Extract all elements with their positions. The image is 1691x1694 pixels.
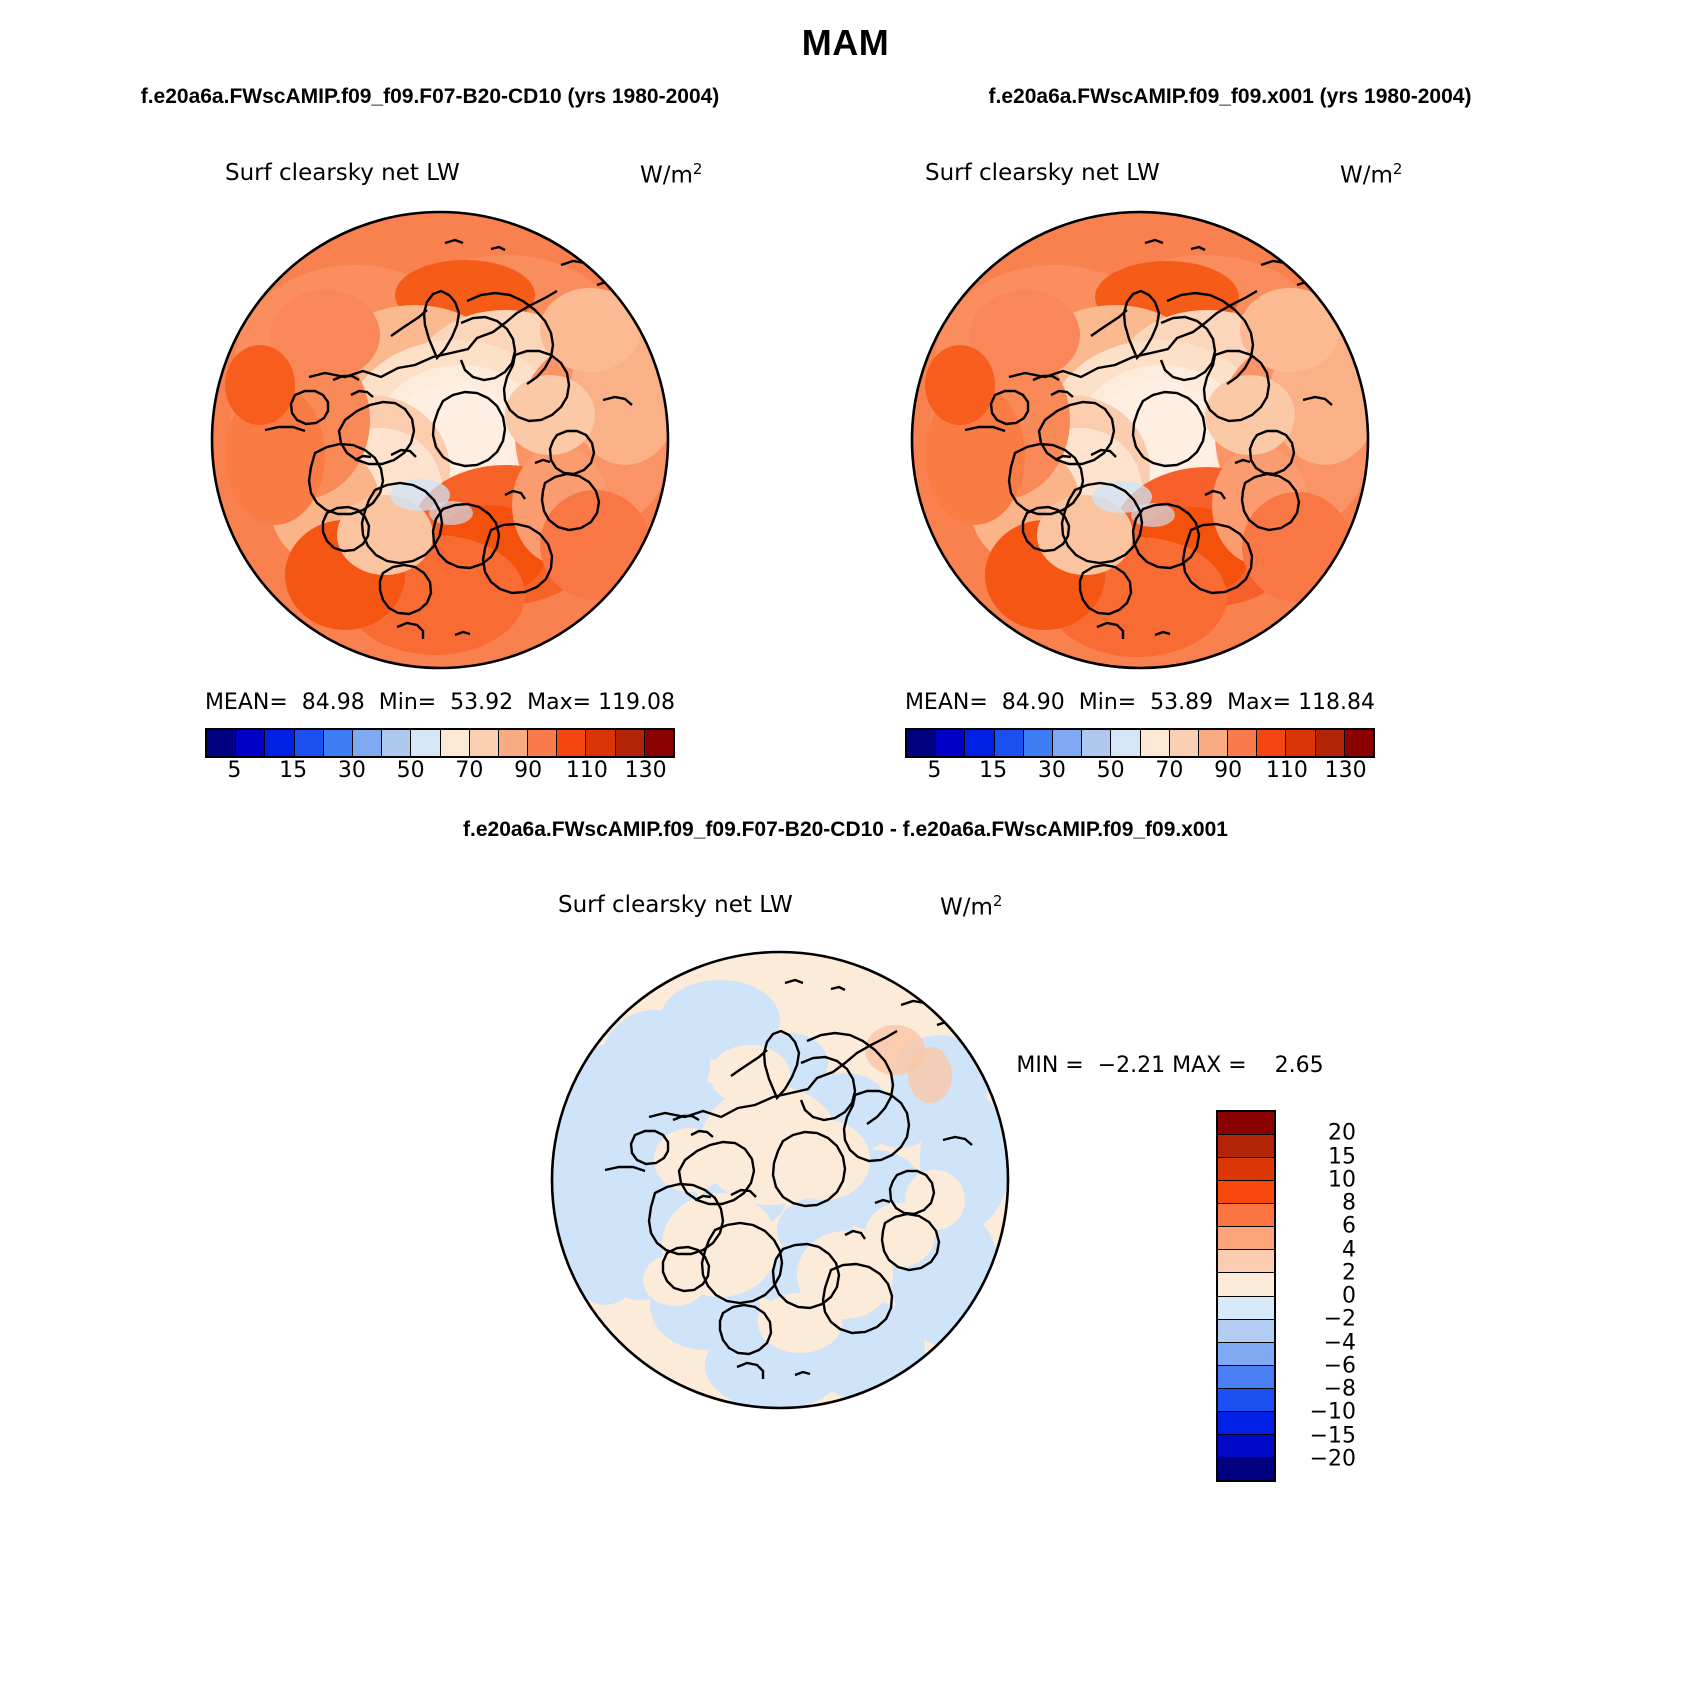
unit-label-right: W/m2 <box>1340 160 1402 189</box>
colorbar-tick-label: −4 <box>1282 1330 1356 1355</box>
colorbar-labels-right: 51530507090110130 <box>905 758 1375 790</box>
unit-label-left: W/m2 <box>640 160 702 189</box>
colorbar-tick-label: −8 <box>1282 1377 1356 1402</box>
colorbar-tick-label: 2 <box>1282 1260 1356 1285</box>
colorbar-tick-label: −10 <box>1282 1400 1356 1425</box>
colorbar-segment <box>616 730 645 756</box>
field-label-right: Surf clearsky net LW <box>925 160 1160 186</box>
colorbar-tick-label: 50 <box>1097 758 1125 783</box>
colorbar-difference: 20151086420−2−4−6−8−10−15−20 <box>1216 1110 1276 1482</box>
map-difference <box>545 945 1015 1415</box>
colorbar-segment <box>1218 1181 1274 1204</box>
colorbar-tick-label: 50 <box>397 758 425 783</box>
colorbar-segment <box>1286 730 1315 756</box>
unit-text-right: W/m <box>1340 163 1393 189</box>
colorbar-segment <box>1218 1158 1274 1181</box>
unit-exponent-right: 2 <box>1393 160 1403 178</box>
colorbar-tick-label: 20 <box>1282 1121 1356 1146</box>
colorbar-tick-label: 15 <box>979 758 1007 783</box>
colorbar-segment <box>441 730 470 756</box>
colorbar-segment <box>324 730 353 756</box>
colorbar-tick-label: 6 <box>1282 1214 1356 1239</box>
colorbar-tick-label: 5 <box>227 758 241 783</box>
colorbar-strip-diff[interactable] <box>1216 1110 1276 1482</box>
colorbar-tick-label: 30 <box>338 758 366 783</box>
colorbar-strip-left[interactable] <box>205 728 675 758</box>
colorbar-strip-right[interactable] <box>905 728 1375 758</box>
case-title-right: f.e20a6a.FWscAMIP.f09_f09.x001 (yrs 1980… <box>820 85 1640 109</box>
colorbar-segment <box>470 730 499 756</box>
colorbar-tick-label: 70 <box>1155 758 1183 783</box>
colorbar-segment <box>265 730 294 756</box>
colorbar-segment <box>1199 730 1228 756</box>
colorbar-segment <box>1218 1366 1274 1389</box>
colorbar-segment <box>1257 730 1286 756</box>
unit-exponent-diff: 2 <box>993 892 1003 910</box>
field-label-left: Surf clearsky net LW <box>225 160 460 186</box>
unit-text-diff: W/m <box>940 895 993 921</box>
colorbar-segment <box>907 730 936 756</box>
unit-text-left: W/m <box>640 163 693 189</box>
colorbar-segment <box>207 730 236 756</box>
colorbar-tick-label: −6 <box>1282 1353 1356 1378</box>
field-label-diff: Surf clearsky net LW <box>558 892 793 918</box>
case-title-left: f.e20a6a.FWscAMIP.f09_f09.F07-B20-CD10 (… <box>30 85 830 109</box>
colorbar-tick-label: 90 <box>514 758 542 783</box>
colorbar-segment <box>1345 730 1373 756</box>
map-fill-left <box>205 205 675 675</box>
colorbar-segment <box>1218 1412 1274 1435</box>
page-title: MAM <box>0 22 1691 64</box>
map-top-left <box>205 205 675 675</box>
colorbar-segment <box>353 730 382 756</box>
colorbar-tick-label: 10 <box>1282 1167 1356 1192</box>
colorbar-tick-label: 30 <box>1038 758 1066 783</box>
stats-top-right: MEAN= 84.90 Min= 53.89 Max= 118.84 <box>860 690 1420 715</box>
colorbar-tick-label: 5 <box>927 758 941 783</box>
colorbar-segment <box>499 730 528 756</box>
colorbar-tick-label: 8 <box>1282 1191 1356 1216</box>
colorbar-top-right: 51530507090110130 <box>905 728 1375 790</box>
colorbar-segment <box>1218 1435 1274 1458</box>
colorbar-segment <box>965 730 994 756</box>
colorbar-tick-label: 110 <box>566 758 608 783</box>
colorbar-segment <box>1111 730 1140 756</box>
colorbar-segment <box>411 730 440 756</box>
unit-exponent-left: 2 <box>693 160 703 178</box>
polar-map-circle-left <box>205 205 675 675</box>
colorbar-segment <box>1141 730 1170 756</box>
colorbar-segment <box>1218 1297 1274 1320</box>
map-fill-right <box>905 205 1375 675</box>
colorbar-labels-left: 51530507090110130 <box>205 758 675 790</box>
polar-map-circle-right <box>905 205 1375 675</box>
unit-label-diff: W/m2 <box>940 892 1002 921</box>
colorbar-tick-label: 130 <box>1325 758 1367 783</box>
colorbar-segment <box>1024 730 1053 756</box>
colorbar-segment <box>1218 1112 1274 1135</box>
colorbar-segment <box>528 730 557 756</box>
colorbar-labels-diff: 20151086420−2−4−6−8−10−15−20 <box>1282 1110 1362 1482</box>
colorbar-segment <box>1218 1204 1274 1227</box>
colorbar-segment <box>295 730 324 756</box>
colorbar-segment <box>1170 730 1199 756</box>
colorbar-segment <box>1228 730 1257 756</box>
colorbar-segment <box>645 730 673 756</box>
colorbar-tick-label: −20 <box>1282 1446 1356 1471</box>
colorbar-tick-label: 0 <box>1282 1284 1356 1309</box>
colorbar-segment <box>936 730 965 756</box>
map-top-right <box>905 205 1375 675</box>
colorbar-segment <box>1218 1458 1274 1480</box>
colorbar-segment <box>1082 730 1111 756</box>
colorbar-segment <box>1218 1320 1274 1343</box>
colorbar-segment <box>557 730 586 756</box>
colorbar-segment <box>1218 1227 1274 1250</box>
colorbar-segment <box>1218 1343 1274 1366</box>
colorbar-segment <box>586 730 615 756</box>
colorbar-tick-label: −15 <box>1282 1423 1356 1448</box>
colorbar-segment <box>1218 1273 1274 1296</box>
colorbar-tick-label: 15 <box>279 758 307 783</box>
colorbar-tick-label: 70 <box>455 758 483 783</box>
stats-top-left: MEAN= 84.98 Min= 53.92 Max= 119.08 <box>160 690 720 715</box>
colorbar-tick-label: 90 <box>1214 758 1242 783</box>
colorbar-top-left: 51530507090110130 <box>205 728 675 790</box>
map-fill-diff <box>545 945 1015 1415</box>
polar-map-circle-diff <box>545 945 1015 1415</box>
colorbar-tick-label: 130 <box>625 758 667 783</box>
colorbar-segment <box>236 730 265 756</box>
colorbar-segment <box>1218 1135 1274 1158</box>
colorbar-tick-label: 15 <box>1282 1144 1356 1169</box>
colorbar-segment <box>1053 730 1082 756</box>
colorbar-tick-label: −2 <box>1282 1307 1356 1332</box>
colorbar-segment <box>995 730 1024 756</box>
colorbar-tick-label: 110 <box>1266 758 1308 783</box>
diff-case-title: f.e20a6a.FWscAMIP.f09_f09.F07-B20-CD10 -… <box>0 818 1691 842</box>
colorbar-segment <box>1316 730 1345 756</box>
colorbar-segment <box>1218 1389 1274 1412</box>
colorbar-segment <box>382 730 411 756</box>
colorbar-tick-label: 4 <box>1282 1237 1356 1262</box>
colorbar-segment <box>1218 1250 1274 1273</box>
